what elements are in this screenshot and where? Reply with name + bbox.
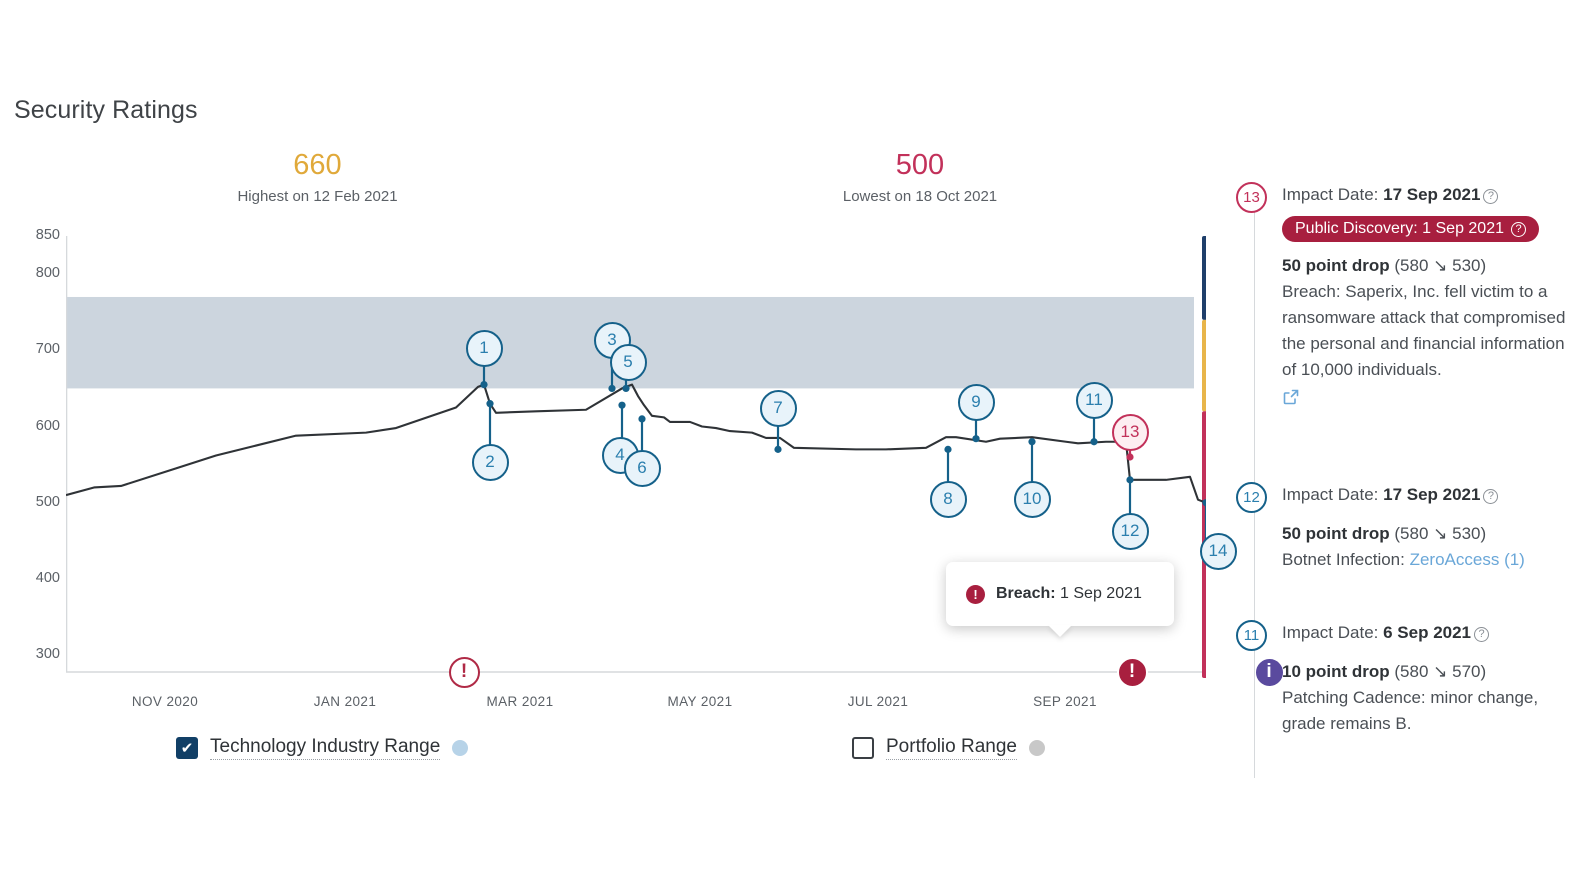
- chart-marker-7[interactable]: 7: [760, 390, 797, 427]
- marker-anchor-5: [622, 385, 629, 392]
- legend-item-technology-industry-range[interactable]: ✔ Technology Industry Range: [176, 736, 468, 760]
- marker-anchor-7: [774, 446, 781, 453]
- tooltip-arrow: [1048, 625, 1072, 637]
- check-icon: ✔: [181, 741, 194, 756]
- chart-marker-8[interactable]: 8: [930, 481, 967, 518]
- impact-date-line: Impact Date: 6 Sep 2021?: [1282, 620, 1566, 645]
- chart-marker-12[interactable]: 12: [1112, 513, 1149, 550]
- point-drop-range: (580 ↘ 530): [1390, 524, 1486, 543]
- rating-scale-intermediate: [1202, 320, 1206, 411]
- marker-anchor-13: [1126, 453, 1133, 460]
- tooltip-date: 1 Sep 2021: [1060, 585, 1142, 602]
- impact-date-value: 17 Sep 2021: [1383, 185, 1480, 204]
- public-discovery-text: Public Discovery: 1 Sep 2021: [1295, 220, 1504, 238]
- x-axis-tick-4: JUL 2021: [813, 694, 943, 709]
- tooltip-text: Breach: 1 Sep 2021: [996, 585, 1142, 603]
- chart-marker-13[interactable]: 13: [1112, 414, 1149, 451]
- impact-date-value: 6 Sep 2021: [1383, 623, 1471, 642]
- impact-date-label: Impact Date:: [1282, 623, 1383, 642]
- chart-marker-1[interactable]: 1: [466, 330, 503, 367]
- y-axis-tick-700: 700: [8, 341, 60, 357]
- chart-marker-10[interactable]: 10: [1014, 481, 1051, 518]
- marker-anchor-1: [480, 381, 487, 388]
- point-drop-amount: 10 point drop: [1282, 662, 1390, 681]
- impact-date-label: Impact Date:: [1282, 485, 1383, 504]
- alert-icon: !: [966, 585, 985, 604]
- event-body: Impact Date: 17 Sep 2021?Public Discover…: [1282, 182, 1566, 411]
- marker-anchor-4: [618, 402, 625, 409]
- axis-event-alert-outline-icon[interactable]: !: [449, 657, 480, 688]
- x-axis-tick-1: JAN 2021: [280, 694, 410, 709]
- chart-marker-6[interactable]: 6: [624, 450, 661, 487]
- lowest-rating-caption: Lowest on 18 Oct 2021: [790, 188, 1050, 205]
- breach-tooltip: ! Breach: 1 Sep 2021: [946, 562, 1174, 626]
- event-number-badge-13[interactable]: 13: [1236, 182, 1267, 213]
- marker-anchor-12: [1126, 476, 1133, 483]
- point-drop-line: 50 point drop (580 ↘ 530): [1282, 521, 1566, 547]
- description-suffix: (1): [1499, 550, 1525, 569]
- legend-item-portfolio-range[interactable]: Portfolio Range: [852, 736, 1045, 760]
- description-link[interactable]: ZeroAccess: [1410, 550, 1500, 569]
- marker-anchor-8: [944, 446, 951, 453]
- external-link-icon[interactable]: [1282, 388, 1300, 406]
- chart-legend: ✔ Technology Industry Range Portfolio Ra…: [176, 736, 1076, 770]
- y-axis-tick-400: 400: [8, 570, 60, 586]
- chart-marker-11[interactable]: 11: [1076, 382, 1113, 419]
- x-axis-tick-5: SEP 2021: [1000, 694, 1130, 709]
- public-discovery-pill[interactable]: Public Discovery: 1 Sep 2021?: [1282, 216, 1539, 242]
- point-drop-range: (580 ↘ 570): [1390, 662, 1486, 681]
- marker-anchor-11: [1090, 438, 1097, 445]
- impact-date-line: Impact Date: 17 Sep 2021?: [1282, 182, 1566, 207]
- help-icon[interactable]: ?: [1483, 489, 1498, 504]
- point-drop-amount: 50 point drop: [1282, 524, 1390, 543]
- y-axis-tick-500: 500: [8, 494, 60, 510]
- event-body: Impact Date: 17 Sep 2021?50 point drop (…: [1282, 482, 1566, 573]
- marker-anchor-3: [608, 385, 615, 392]
- help-icon[interactable]: ?: [1474, 627, 1489, 642]
- point-drop-line: 50 point drop (580 ↘ 530): [1282, 253, 1566, 279]
- y-axis-tick-600: 600: [8, 418, 60, 434]
- highest-rating-caption: Highest on 12 Feb 2021: [180, 188, 455, 205]
- rating-scale-advanced: [1202, 236, 1206, 320]
- lowest-rating-value: 500: [790, 148, 1050, 182]
- legend-label-technology: Technology Industry Range: [210, 736, 440, 760]
- marker-anchor-9: [972, 435, 979, 442]
- impact-date-value: 17 Sep 2021: [1383, 485, 1480, 504]
- event-card-11[interactable]: 11Impact Date: 6 Sep 2021?10 point drop …: [1236, 620, 1566, 737]
- x-axis-tick-0: NOV 2020: [100, 694, 230, 709]
- page-title: Security Ratings: [14, 96, 198, 125]
- portfolio-range-checkbox[interactable]: [852, 737, 874, 759]
- marker-anchor-2: [486, 400, 493, 407]
- x-axis-tick-3: MAY 2021: [635, 694, 765, 709]
- event-description: Botnet Infection: ZeroAccess (1): [1282, 547, 1566, 573]
- marker-anchor-6: [638, 415, 645, 422]
- event-number-badge-11[interactable]: 11: [1236, 620, 1267, 651]
- impact-date-line: Impact Date: 17 Sep 2021?: [1282, 482, 1566, 507]
- event-card-13[interactable]: 13Impact Date: 17 Sep 2021?Public Discov…: [1236, 182, 1566, 411]
- impact-date-label: Impact Date:: [1282, 185, 1383, 204]
- marker-anchor-10: [1028, 438, 1035, 445]
- y-axis-tick-800: 800: [8, 265, 60, 281]
- chart-marker-14[interactable]: 14: [1200, 533, 1237, 570]
- y-axis-tick-300: 300: [8, 646, 60, 662]
- point-drop-range: (580 ↘ 530): [1390, 256, 1486, 275]
- help-icon[interactable]: ?: [1483, 189, 1498, 204]
- lowest-rating-stat: 500 Lowest on 18 Oct 2021: [790, 148, 1050, 205]
- legend-swatch-portfolio: [1029, 740, 1045, 756]
- chart-marker-5[interactable]: 5: [610, 344, 647, 381]
- event-description: Patching Cadence: minor change, grade re…: [1282, 685, 1566, 737]
- description-prefix: Botnet Infection:: [1282, 550, 1410, 569]
- tooltip-label: Breach:: [996, 585, 1056, 602]
- chart-marker-2[interactable]: 2: [472, 444, 509, 481]
- event-number-badge-12[interactable]: 12: [1236, 482, 1267, 513]
- axis-event-breach-icon[interactable]: !: [1117, 657, 1148, 688]
- event-card-12[interactable]: 12Impact Date: 17 Sep 2021?50 point drop…: [1236, 482, 1566, 573]
- legend-swatch-technology: [452, 740, 468, 756]
- point-drop-line: 10 point drop (580 ↘ 570): [1282, 659, 1566, 685]
- highest-rating-stat: 660 Highest on 12 Feb 2021: [180, 148, 455, 205]
- event-details-panel[interactable]: 13Impact Date: 17 Sep 2021?Public Discov…: [1236, 182, 1580, 782]
- legend-label-portfolio: Portfolio Range: [886, 736, 1017, 760]
- event-description: Breach: Saperix, Inc. fell victim to a r…: [1282, 279, 1566, 383]
- technology-range-checkbox[interactable]: ✔: [176, 737, 198, 759]
- help-icon[interactable]: ?: [1511, 222, 1526, 237]
- x-axis-tick-2: MAR 2021: [455, 694, 585, 709]
- chart-marker-9[interactable]: 9: [958, 384, 995, 421]
- event-body: Impact Date: 6 Sep 2021?10 point drop (5…: [1282, 620, 1566, 737]
- point-drop-amount: 50 point drop: [1282, 256, 1390, 275]
- highest-rating-value: 660: [180, 148, 455, 182]
- y-axis-tick-850: 850: [8, 227, 60, 243]
